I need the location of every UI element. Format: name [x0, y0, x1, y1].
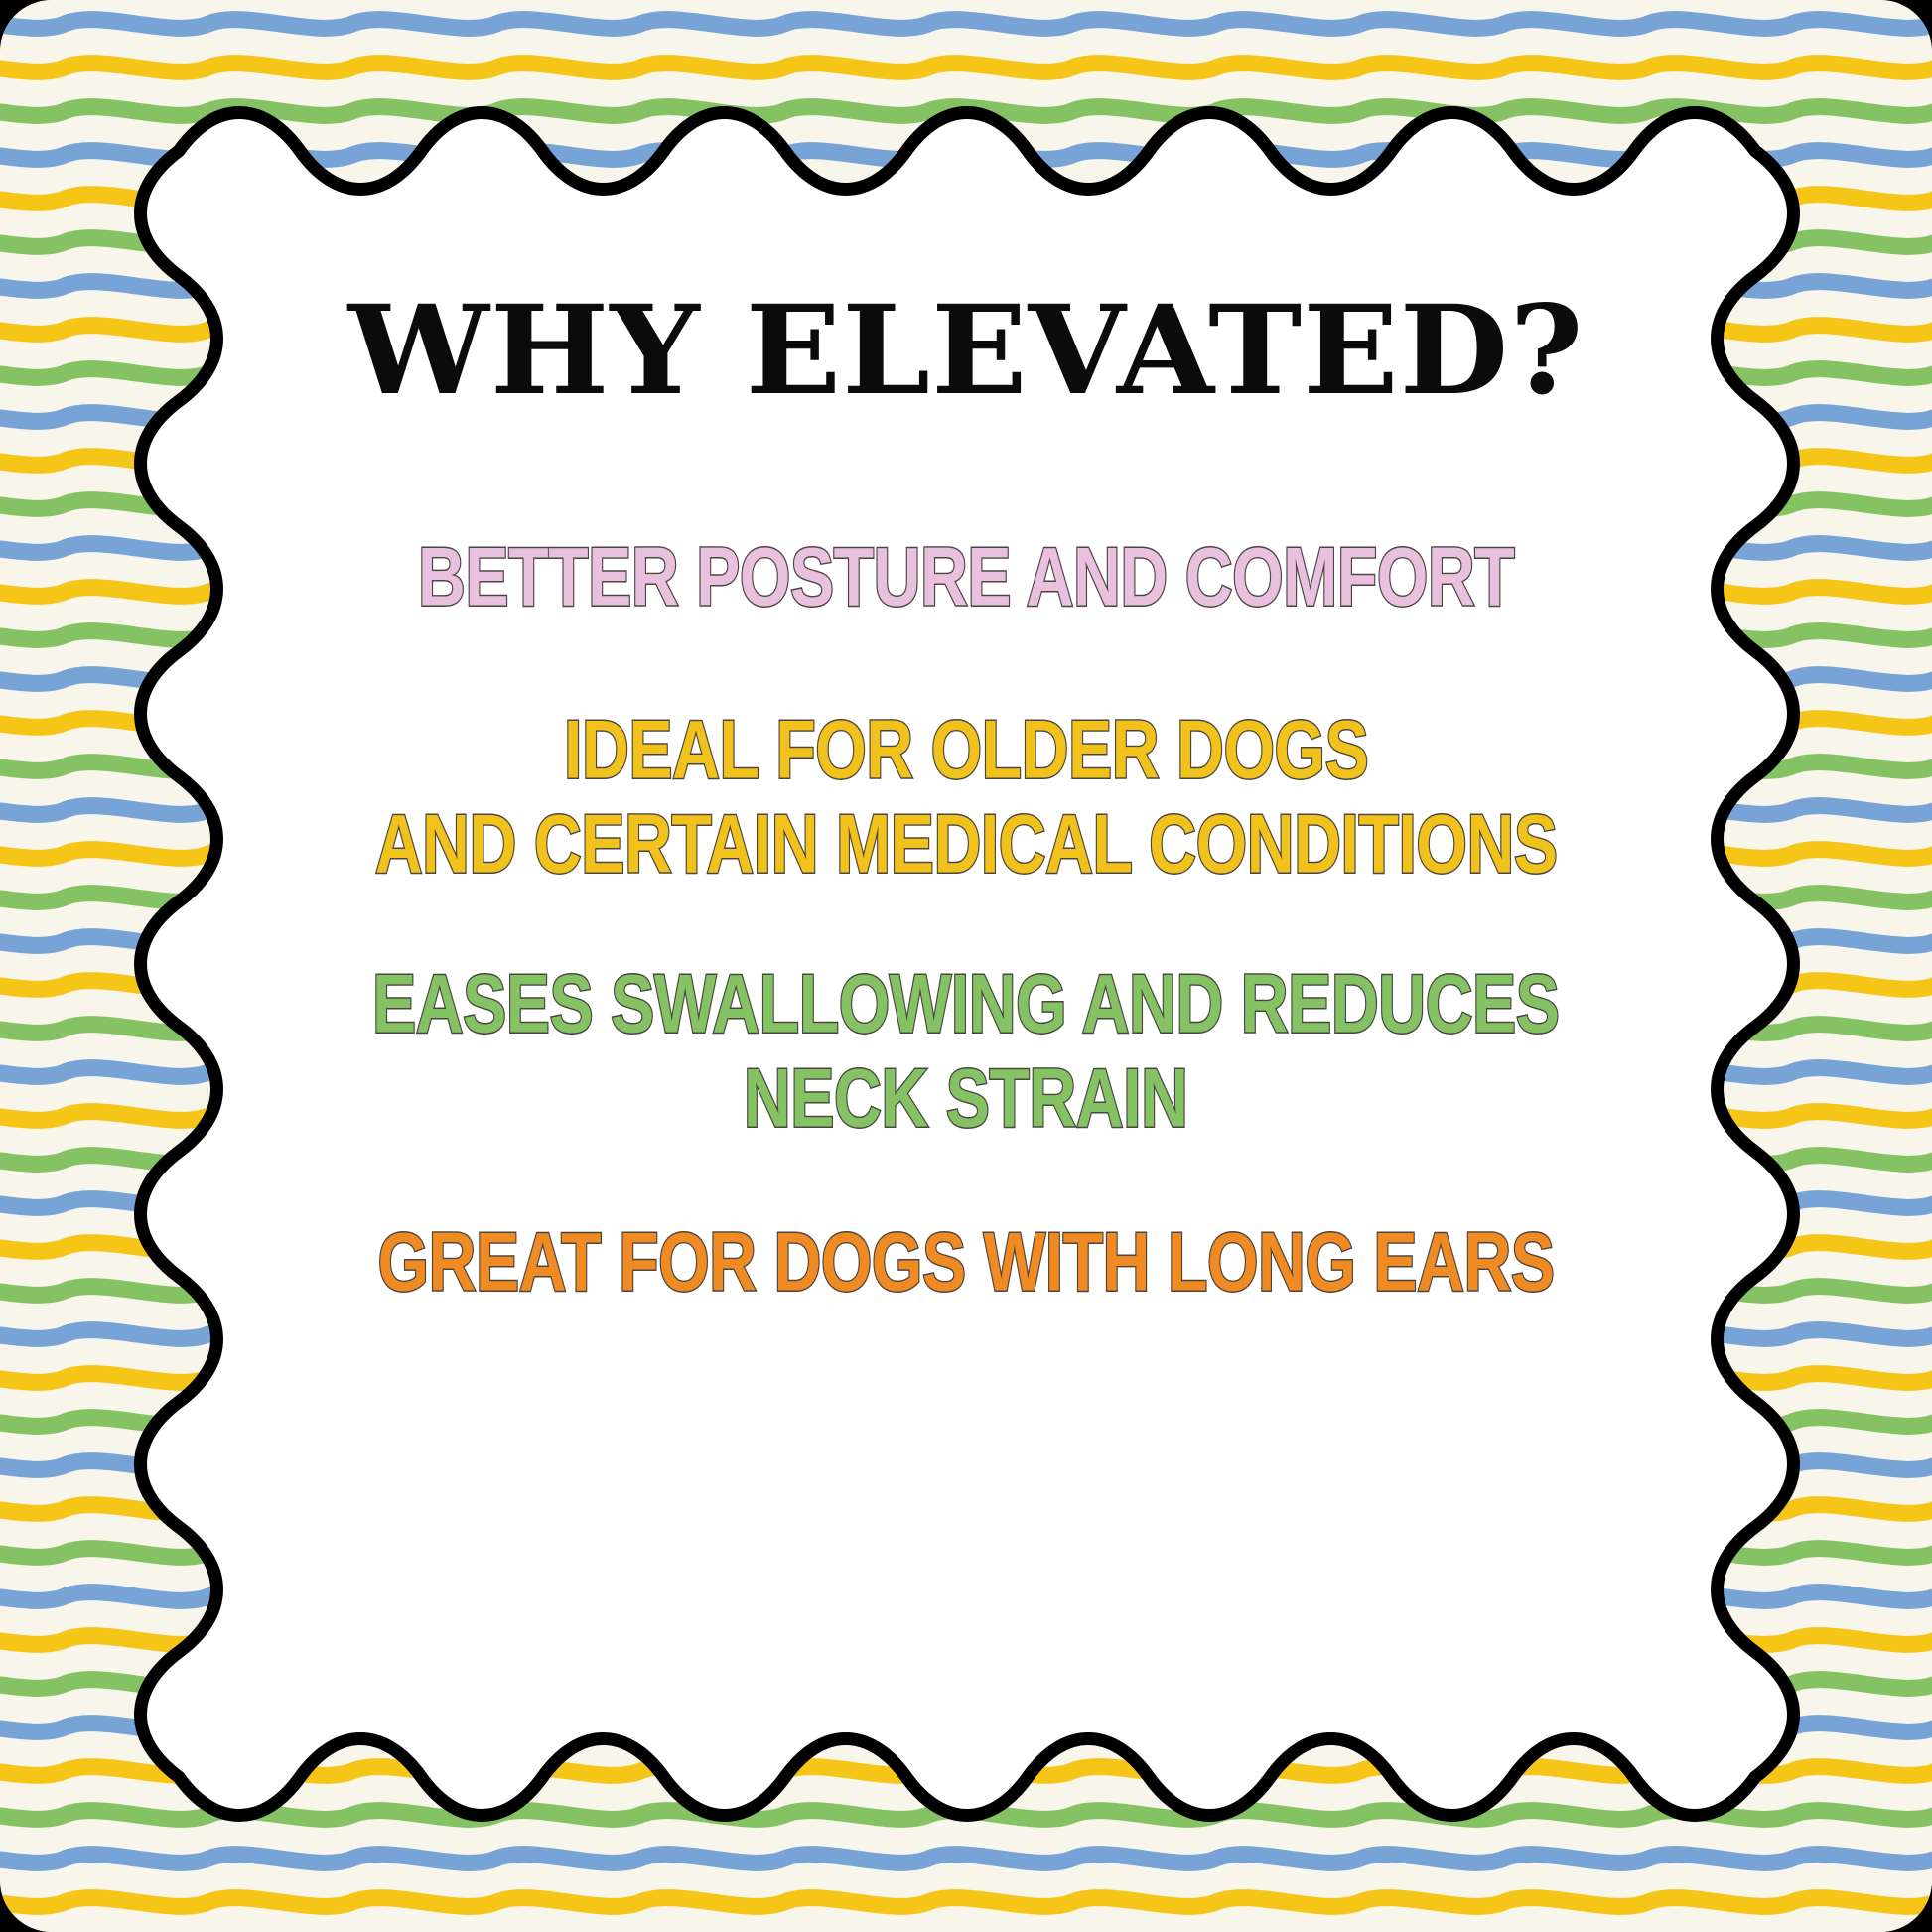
poster-content: WHY ELEVATED? BETTER POSTURE AND COMFORT…	[241, 199, 1691, 1733]
benefit-long-ears: GREAT FOR DOGS WITH LONG EARS	[377, 1215, 1554, 1310]
benefit-swallowing: EASES SWALLOWING AND REDUCES NECK STRAIN	[372, 957, 1559, 1146]
poster-canvas: WHY ELEVATED? BETTER POSTURE AND COMFORT…	[0, 0, 1932, 1932]
benefit-older-dogs: IDEAL FOR OLDER DOGS AND CERTAIN MEDICAL…	[375, 703, 1558, 892]
benefit-posture: BETTER POSTURE AND COMFORT	[418, 530, 1514, 624]
page-title: WHY ELEVATED?	[348, 290, 1585, 413]
